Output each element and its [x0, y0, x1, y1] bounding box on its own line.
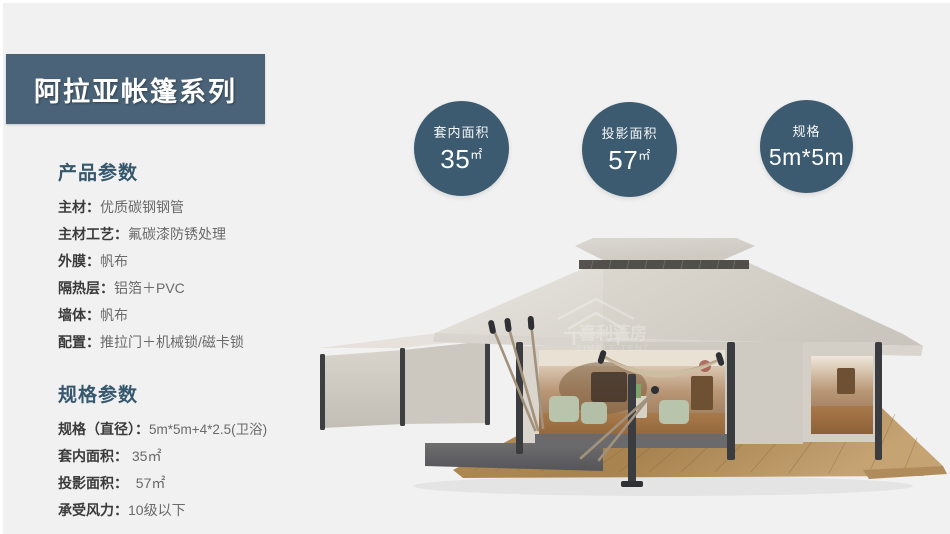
spec-label: 墙体： — [58, 307, 100, 323]
badge-caption: 套内面积 — [433, 126, 489, 139]
spec-value: 10级以下 — [128, 502, 186, 518]
badge-caption: 投影面积 — [601, 127, 657, 140]
page-root: 阿拉亚帐篷系列 产品参数 主材：优质碳钢钢管 主材工艺：氟碳漆防锈处理 外膜：帆… — [0, 0, 950, 534]
upper-roof — [575, 238, 755, 260]
wing-post-1 — [320, 354, 325, 430]
badge-value: 57㎡ — [608, 147, 650, 173]
badge-projected-area: 投影面积 57㎡ — [582, 102, 677, 197]
spec-label: 配置： — [58, 334, 100, 350]
spec-value: 5m*5m+4*2.5(卫浴) — [149, 422, 267, 437]
spec-value: 氟碳漆防锈处理 — [128, 226, 226, 242]
spec-label: 承受风力： — [58, 502, 128, 518]
spec-label: 投影面积： — [58, 475, 128, 491]
corner-post-mid — [727, 342, 735, 460]
wing-post-3 — [485, 339, 490, 425]
spec-value: 优质碳钢钢管 — [100, 199, 184, 215]
right-room-floor — [811, 406, 873, 434]
badge-dimensions: 规格 5m*5m — [760, 100, 853, 193]
badge-value: 35㎡ — [440, 146, 482, 172]
spec-value: 帆布 — [100, 307, 128, 323]
tent-render-svg — [303, 238, 950, 508]
wing-post-2 — [400, 348, 405, 426]
deck-post-foot — [621, 481, 643, 487]
spec-label: 外膜： — [58, 253, 100, 269]
spec-value: 35㎡ — [132, 448, 162, 464]
spec-value: 57㎡ — [136, 475, 166, 491]
spec-label: 主材： — [58, 199, 100, 215]
spec-label: 主材工艺： — [58, 226, 128, 242]
main-roof-right — [603, 260, 923, 346]
tent-illustration: 喜利蓬房 SIMPLE TENT — [303, 238, 950, 508]
page-title: 阿拉亚帐篷系列 — [34, 70, 237, 109]
spec-value: 推拉门＋机械锁/磁卡锁 — [100, 334, 244, 350]
badge-value: 5m*5m — [769, 146, 844, 169]
corner-post-right — [875, 342, 882, 460]
ground-shadow — [413, 476, 913, 496]
spec-label: 套内面积： — [58, 448, 128, 464]
spec-label: 规格（直径）： — [58, 421, 149, 437]
badge-indoor-area: 套内面积 35㎡ — [414, 101, 509, 196]
wing-panel-left — [323, 350, 403, 428]
product-section-heading: 产品参数 — [58, 158, 358, 185]
spec-row: 主材：优质碳钢钢管 — [58, 194, 358, 221]
deck-post-front — [628, 374, 636, 484]
right-room-cabinet — [837, 368, 855, 394]
wing-panel-mid — [403, 341, 488, 424]
spec-value: 铝箔＋PVC — [114, 280, 185, 296]
series-title-bar: 阿拉亚帐篷系列 — [6, 54, 265, 124]
spec-value: 帆布 — [100, 253, 128, 269]
room-header-band — [539, 350, 725, 366]
spec-label: 隔热层： — [58, 280, 114, 296]
badge-caption: 规格 — [792, 125, 820, 138]
